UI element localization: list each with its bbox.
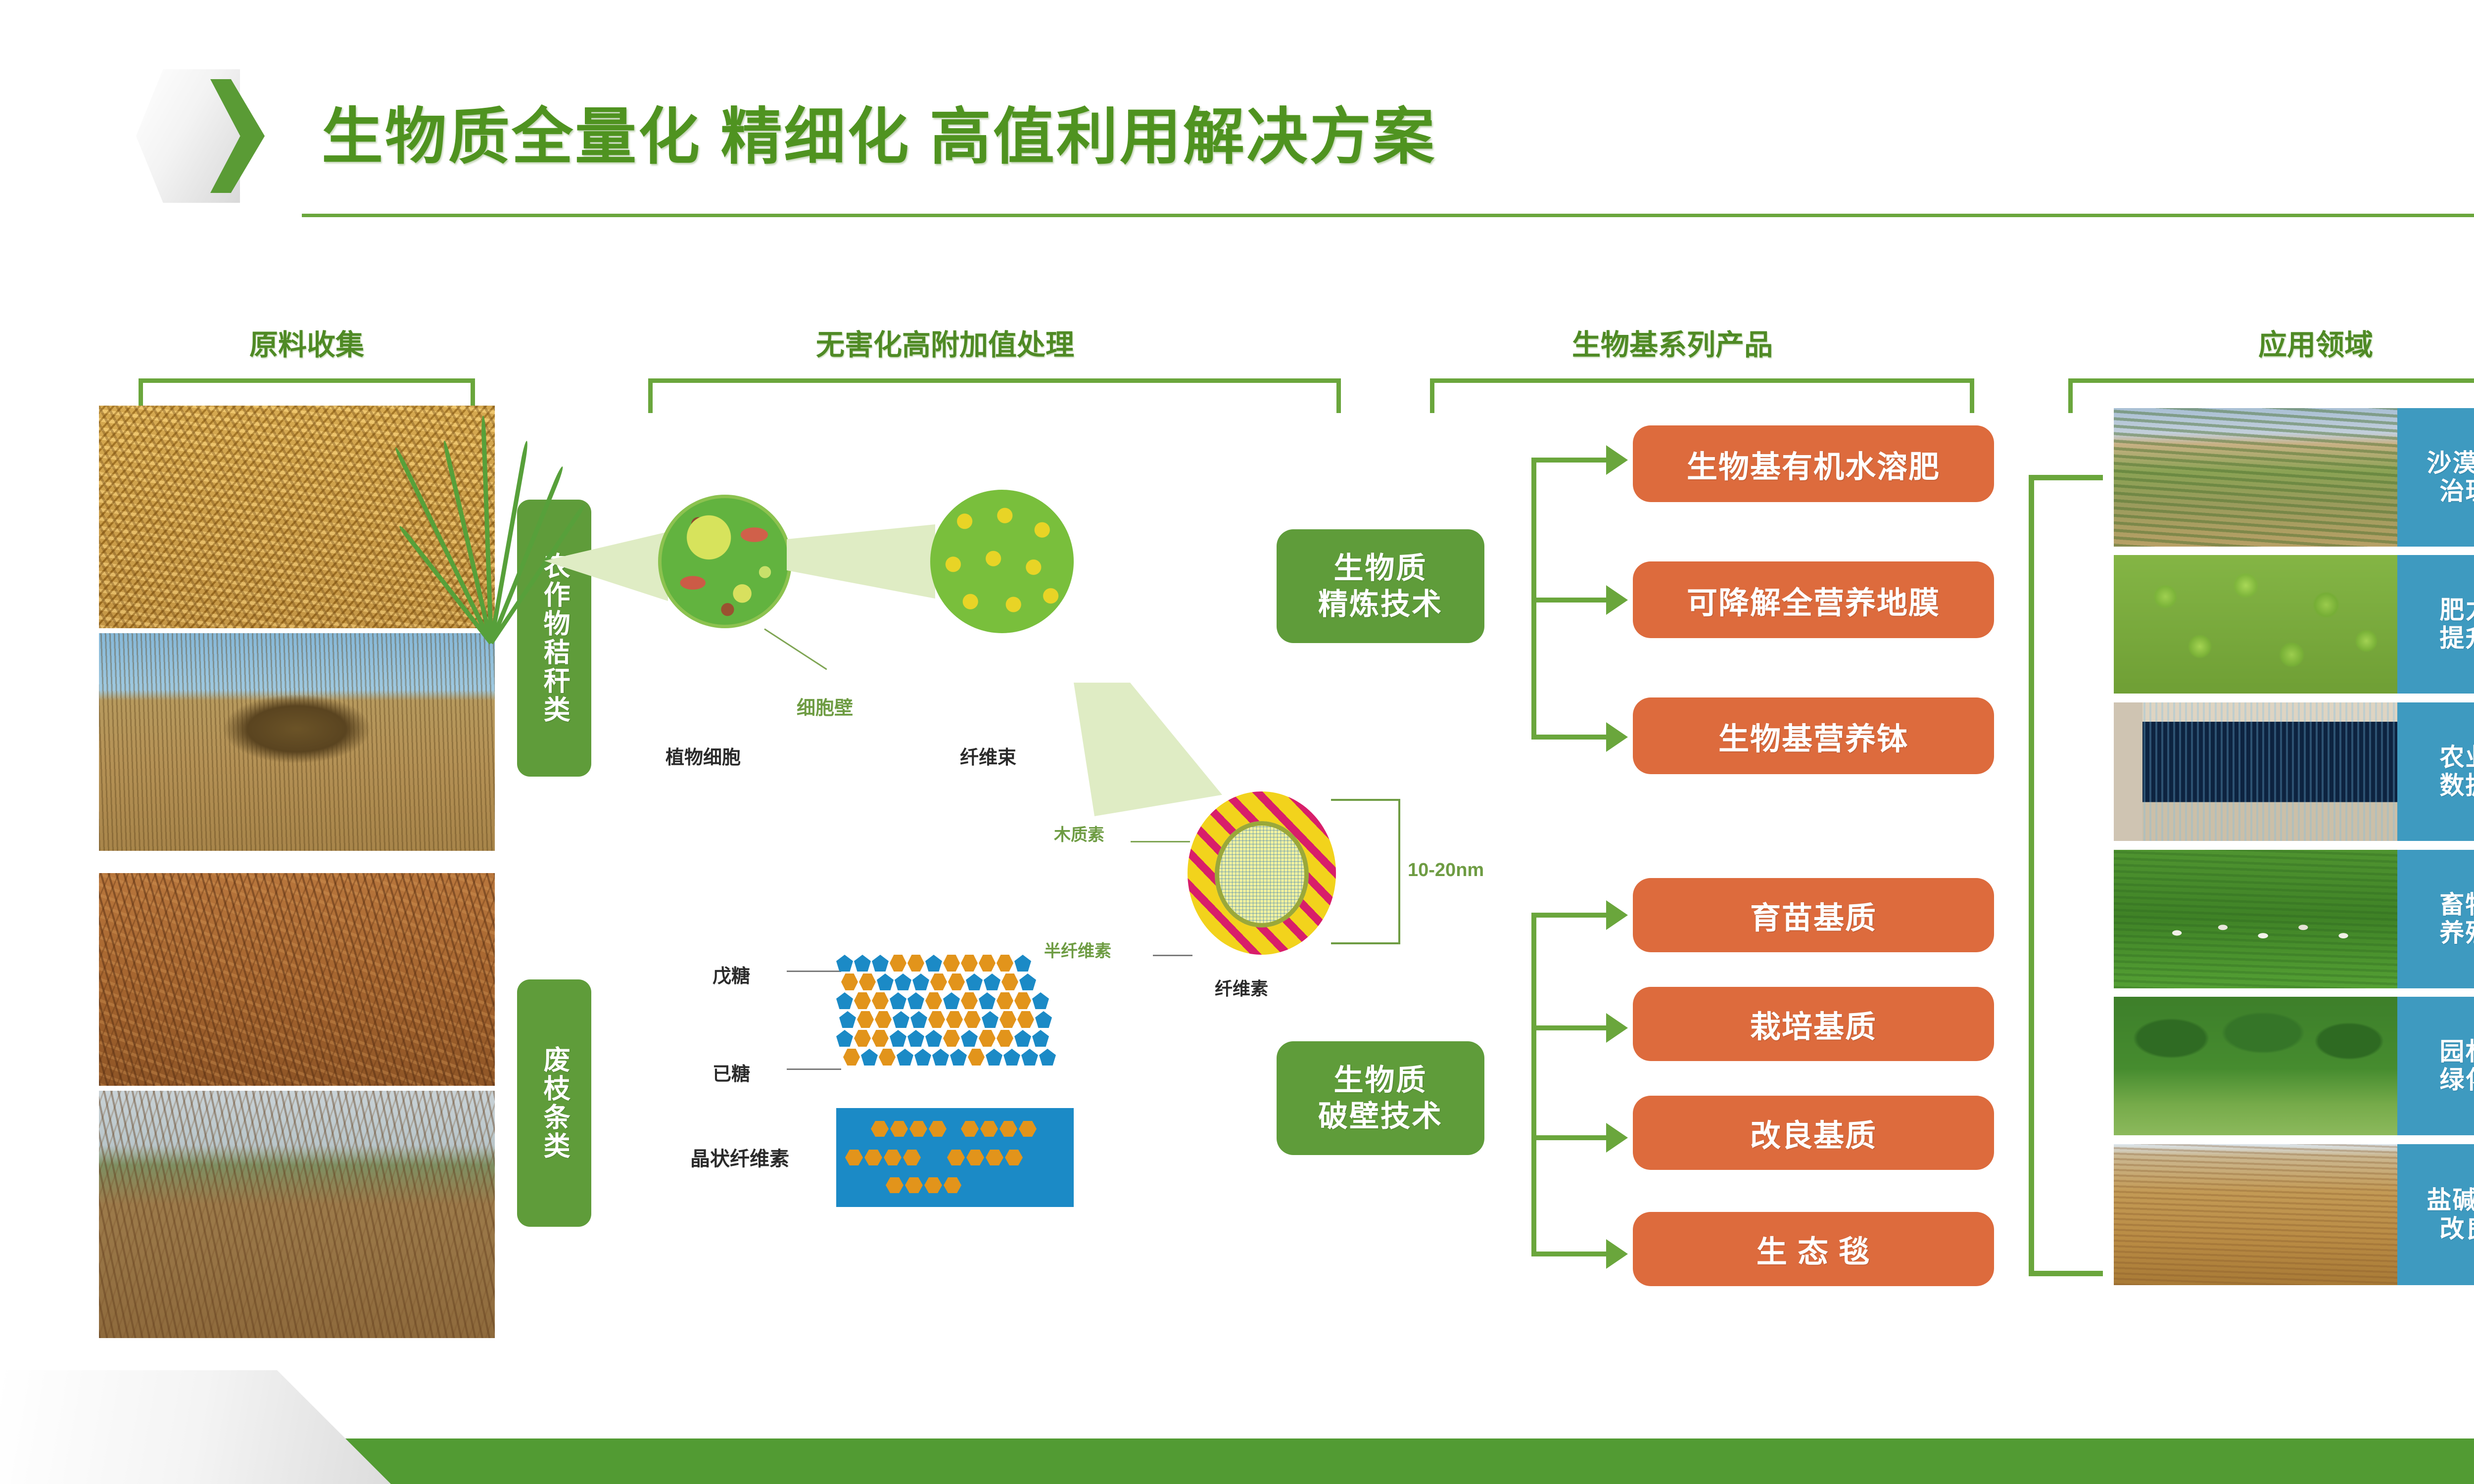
label-plant-cell: 植物细胞 — [666, 742, 741, 769]
app-line1: 盐碱地 — [2427, 1186, 2474, 1215]
crystalline-cellulose-diagram — [836, 1108, 1074, 1207]
product-box-ecological-blanket[interactable]: 生 态 毯 — [1633, 1212, 1994, 1286]
app-line1: 沙漠化 — [2427, 449, 2474, 478]
connector-branch-refining-3 — [1531, 735, 1608, 740]
plant-cell-diagram — [658, 495, 792, 628]
title-underline — [302, 214, 2474, 217]
label-nano-scale: 10-20nm — [1408, 860, 1484, 881]
tech-line1: 生物质 — [1334, 1062, 1427, 1098]
tech-line1: 生物质 — [1334, 550, 1427, 586]
arrow-refining-1 — [1606, 445, 1628, 475]
app-line2: 数据 — [2440, 772, 2474, 800]
label-cell-wall: 细胞壁 — [797, 693, 853, 720]
applications-bracket — [2029, 475, 2103, 1276]
cell-wall-leader-line — [764, 628, 827, 670]
dimension-top-tick — [1331, 799, 1400, 801]
connector-branch-refining-1 — [1531, 458, 1608, 463]
hexose-leader-line — [787, 1068, 841, 1070]
app-line2: 治理 — [2440, 477, 2474, 506]
connector-branch-refining-2 — [1531, 598, 1608, 603]
park-greening-photo — [2114, 997, 2401, 1135]
magnify-cone-nano — [1074, 683, 1222, 816]
product-box-seedling-substrate[interactable]: 育苗基质 — [1633, 878, 1994, 952]
application-label-desertification-control[interactable]: 沙漠化 治理 — [2397, 408, 2474, 547]
vineyard-pruning-photo — [99, 1091, 495, 1338]
app-line2: 绿化 — [2440, 1066, 2474, 1095]
arrow-wall-1 — [1606, 900, 1628, 930]
tech-line2: 精炼技术 — [1318, 586, 1443, 622]
hexagon-arrow-logo — [136, 69, 265, 203]
label-hexose: 已糖 — [713, 1059, 750, 1086]
desert-restoration-photo — [2114, 408, 2401, 547]
product-box-organic-water-soluble-fertilizer[interactable]: 生物基有机水溶肥 — [1633, 425, 1994, 502]
tech-box-biomass-refining[interactable]: 生物质 精炼技术 — [1277, 529, 1484, 643]
app-line2: 改良 — [2440, 1215, 2474, 1244]
application-label-agricultural-data[interactable]: 农业 数据 — [2397, 702, 2474, 841]
saline-alkali-land-photo — [2114, 1144, 2401, 1285]
arrow-refining-3 — [1606, 722, 1628, 752]
section-header-applications: 应用领域 — [2098, 322, 2474, 363]
application-label-landscape-greening[interactable]: 园林 绿化 — [2397, 997, 2474, 1135]
app-line2: 提升 — [2440, 624, 2474, 653]
application-label-livestock-breeding[interactable]: 畜牧 养殖 — [2397, 850, 2474, 988]
grass-plant-illustration — [435, 411, 549, 643]
section-bracket-processing — [648, 378, 1341, 413]
product-box-cultivation-substrate[interactable]: 栽培基质 — [1633, 987, 1994, 1061]
dimension-bottom-tick — [1331, 942, 1400, 944]
application-label-fertility-improvement[interactable]: 肥力 提升 — [2397, 555, 2474, 694]
magnify-cone-fiber — [787, 524, 935, 599]
pentose-leader-line — [787, 971, 841, 972]
section-header-products: 生物基系列产品 — [1430, 322, 1915, 363]
section-header-collection: 原料收集 — [148, 322, 465, 363]
agri-data-center-photo — [2114, 702, 2401, 841]
dry-branches-photo — [99, 873, 495, 1086]
product-box-improvement-substrate[interactable]: 改良基质 — [1633, 1096, 1994, 1170]
footer-wedge-decoration — [0, 1370, 396, 1484]
connector-branch-wall-4 — [1531, 1252, 1608, 1256]
label-fiber-bundle: 纤维束 — [960, 742, 1016, 769]
app-line1: 肥力 — [2440, 596, 2474, 625]
arrow-wall-4 — [1606, 1239, 1628, 1269]
label-pentose: 戊糖 — [713, 961, 750, 988]
app-line2: 养殖 — [2440, 919, 2474, 948]
connector-branch-wall-3 — [1531, 1135, 1608, 1140]
section-bracket-products — [1430, 378, 1974, 413]
sugar-chain-diagram — [836, 955, 1118, 1088]
app-line1: 畜牧 — [2440, 891, 2474, 920]
connector-trunk-wallbreaking — [1531, 913, 1536, 1256]
tech-box-biomass-wall-breaking[interactable]: 生物质 破壁技术 — [1277, 1041, 1484, 1155]
tech-line2: 破壁技术 — [1318, 1098, 1443, 1134]
arrow-refining-2 — [1606, 585, 1628, 615]
label-crystalline-cellulose: 晶状纤维素 — [690, 1143, 789, 1171]
cabbage-field-photo — [2114, 555, 2401, 694]
feedstock-category-waste-branch[interactable]: 废枝条类 — [517, 979, 591, 1227]
dimension-line — [1398, 799, 1400, 944]
label-cellulose: 纤维素 — [1215, 974, 1268, 1000]
cellulose-core — [1215, 821, 1309, 927]
label-lignin: 木质素 — [1054, 821, 1104, 845]
application-label-saline-land-improvement[interactable]: 盐碱地 改良 — [2397, 1144, 2474, 1285]
lignin-leader-line — [1131, 841, 1190, 842]
arrow-wall-2 — [1606, 1013, 1628, 1043]
fiber-bundle-diagram — [930, 490, 1074, 633]
hemicellulose-leader-line — [1153, 955, 1192, 956]
straw-bale-field-photo — [99, 633, 495, 851]
app-line1: 农业 — [2440, 743, 2474, 772]
page-header: 生物质全量化 精细化 高值利用解决方案 — [0, 0, 2474, 237]
product-box-biobased-nutrient-pot[interactable]: 生物基营养钵 — [1633, 697, 1994, 774]
product-box-biodegradable-mulch-film[interactable]: 可降解全营养地膜 — [1633, 561, 1994, 638]
connector-branch-wall-1 — [1531, 913, 1608, 918]
app-line1: 园林 — [2440, 1038, 2474, 1067]
section-header-processing: 无害化高附加值处理 — [658, 322, 1232, 363]
arrow-wall-3 — [1606, 1123, 1628, 1153]
sheep-pasture-photo — [2114, 850, 2401, 988]
page-title: 生物质全量化 精细化 高值利用解决方案 — [322, 87, 1436, 176]
connector-branch-wall-2 — [1531, 1025, 1608, 1030]
